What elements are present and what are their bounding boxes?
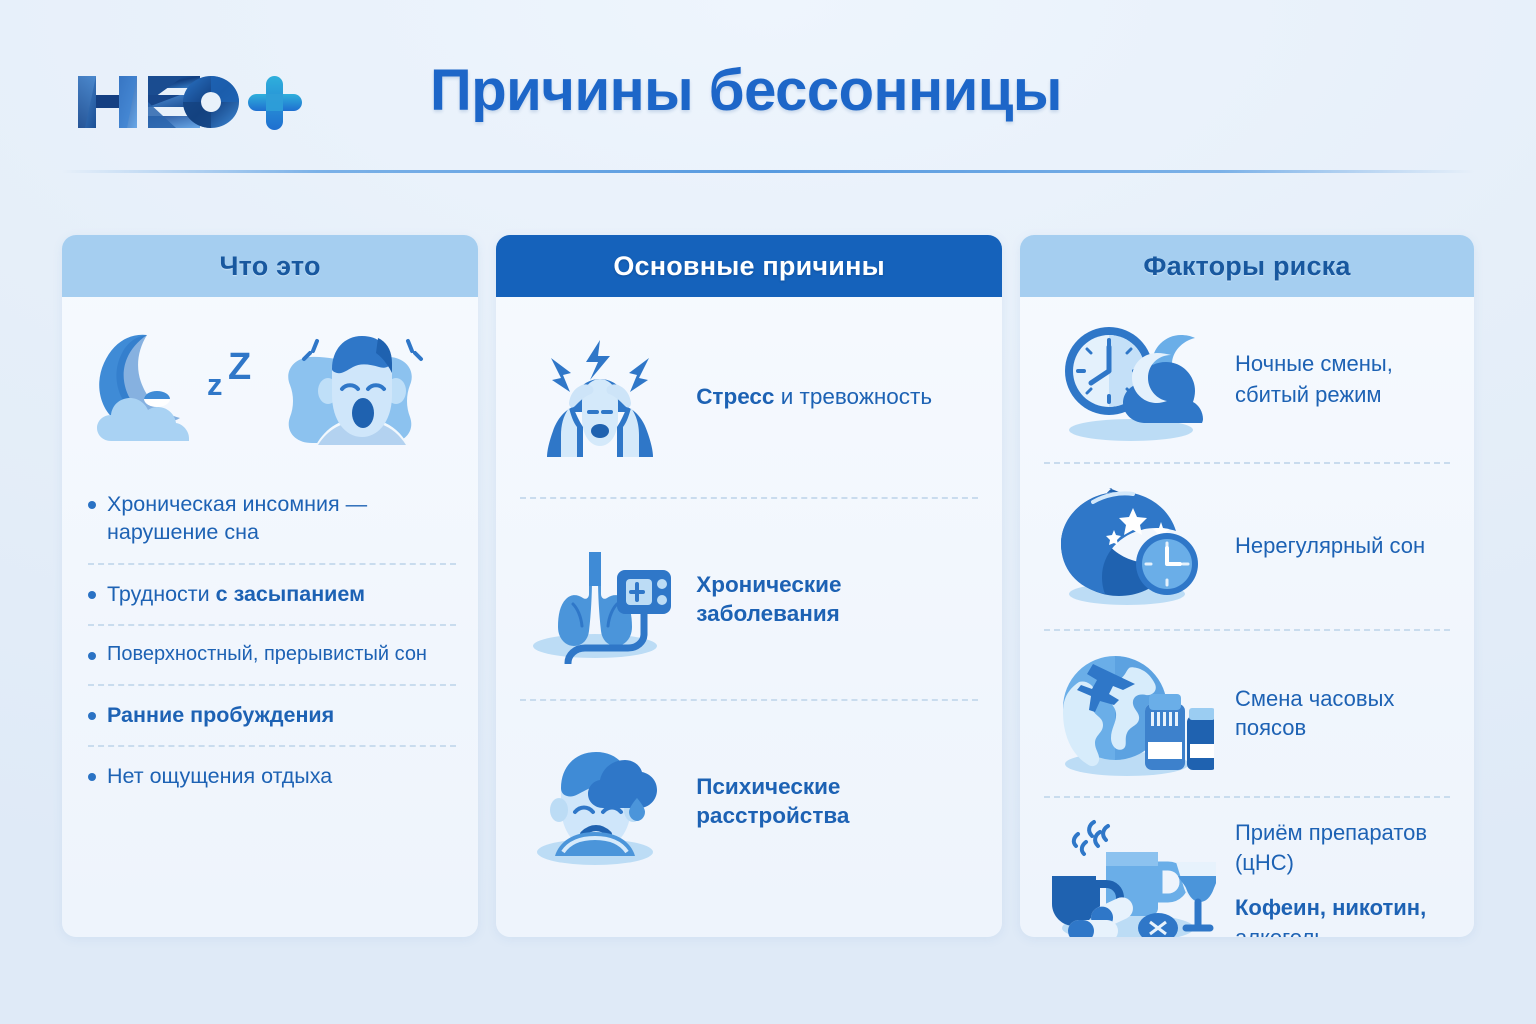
list-item: Хроническая инсомния — нарушение сна: [88, 475, 456, 565]
list-item-label: Поверхностный, прерывистый сон: [107, 641, 427, 667]
globe-airplane-pills-icon: [1044, 646, 1219, 781]
list-item-label: Приём препаратов (цНС) Кофеин, никотин, …: [1235, 818, 1450, 937]
sad-face-rain-cloud-icon: [520, 734, 680, 869]
list-item-label: Ночные смены, сбитый режим: [1235, 349, 1393, 410]
moon-zzz-icon: z Z: [95, 313, 270, 468]
list-item: Ранние пробуждения: [88, 686, 456, 747]
stressed-head-lightning-icon: [520, 332, 680, 462]
card-header-risk-factors: Факторы риска: [1020, 235, 1474, 297]
page-header: Причины бессонницы: [0, 0, 1536, 172]
card-header-what-is-it: Что это: [62, 235, 478, 297]
list-item: Нерегулярный сон: [1044, 464, 1450, 631]
page-title: Причины бессонницы: [366, 57, 1126, 124]
list-item-label: Смена часовых поясов: [1235, 685, 1450, 742]
bullet-dot-icon: [88, 591, 96, 599]
infographic-page: Причины бессонницы Что это z Z: [0, 0, 1536, 1024]
svg-text:z: z: [207, 367, 223, 402]
list-item: Смена часовых поясов: [1044, 631, 1450, 798]
card-header-main-causes: Основные причины: [496, 235, 1002, 297]
list-item: Психические расстройства: [520, 701, 978, 901]
card-main-causes: Основные причины: [496, 235, 1002, 937]
svg-text:Z: Z: [228, 346, 251, 388]
bullet-dot-icon: [88, 501, 96, 509]
bullet-dot-icon: [88, 712, 96, 720]
list-item: Трудности с засыпанием: [88, 565, 456, 626]
lungs-blood-pressure-monitor-icon: [520, 534, 680, 664]
list-item: Поверхностный, прерывистый сон: [88, 626, 456, 685]
bullet-dot-icon: [88, 773, 96, 781]
list-item: Ночные смены, сбитый режим: [1044, 297, 1450, 464]
crescent-stars-clock-icon: [1044, 482, 1219, 612]
coffee-wine-pills-icon: [1044, 816, 1219, 938]
card-body-risk-factors: Ночные смены, сбитый режим: [1020, 297, 1474, 937]
list-item-label: Стресс и тревожность: [696, 382, 932, 411]
list-item: Стресс и тревожность: [520, 297, 978, 499]
list-item-label: Хроническая инсомния — нарушение сна: [107, 490, 456, 547]
list-item-label: Психические расстройства: [696, 772, 978, 831]
yawning-face-pillow-icon: [280, 313, 445, 468]
what-is-it-bullet-list: Хроническая инсомния — нарушение сна Тру…: [62, 475, 478, 806]
card-what-is-it: Что это z Z: [62, 235, 478, 937]
list-item: Нет ощущения отдыха: [88, 747, 456, 806]
card-risk-factors: Факторы риска: [1020, 235, 1474, 937]
hero-illustration-sleep: z Z: [62, 297, 478, 475]
neo-plus-logo: [72, 66, 304, 138]
list-item-label: Нет ощущения отдыха: [107, 762, 332, 790]
card-body-what-is-it: z Z: [62, 297, 478, 937]
list-item-label: Хронические заболевания: [696, 570, 978, 629]
clock-moon-cloud-icon: [1044, 315, 1219, 445]
columns-container: Что это z Z: [62, 235, 1474, 937]
risk-factors-list: Ночные смены, сбитый режим: [1020, 297, 1474, 937]
main-causes-list: Стресс и тревожность: [496, 297, 1002, 901]
list-item-label: Трудности с засыпанием: [107, 580, 365, 608]
bullet-dot-icon: [88, 652, 96, 660]
card-body-main-causes: Стресс и тревожность: [496, 297, 1002, 937]
header-divider: [62, 170, 1474, 173]
list-item: Приём препаратов (цНС) Кофеин, никотин, …: [1044, 798, 1450, 937]
list-item-label: Нерегулярный сон: [1235, 532, 1425, 561]
list-item-label: Ранние пробуждения: [107, 701, 334, 729]
list-item: Хронические заболевания: [520, 499, 978, 701]
